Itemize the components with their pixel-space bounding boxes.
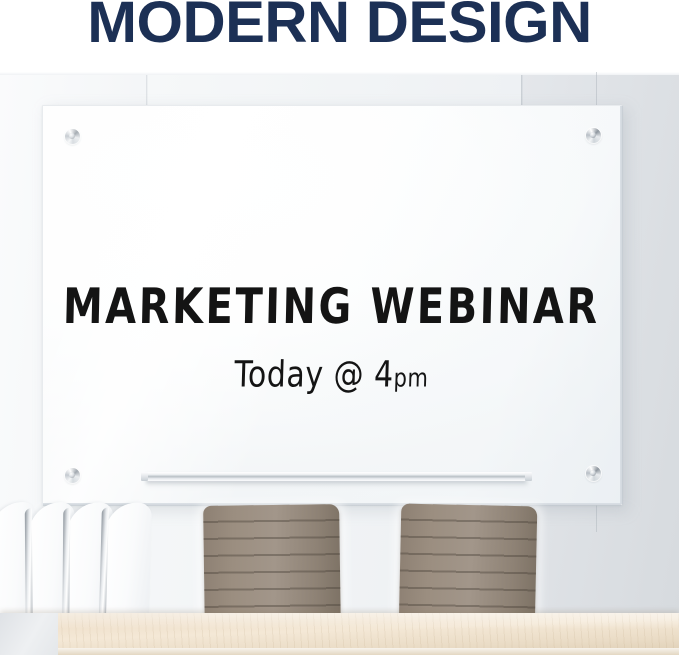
marker-tray-cap-right xyxy=(525,472,532,481)
standoff-top-left-icon xyxy=(65,129,80,144)
table-left-foreground xyxy=(0,613,58,655)
handwriting-line-2-main: Today @ 4 xyxy=(234,354,395,396)
handwriting-line-2-suffix: pm xyxy=(393,364,429,393)
ceiling-line xyxy=(0,72,679,75)
table-front-edge xyxy=(0,648,679,655)
standoff-top-right-icon xyxy=(586,128,601,143)
header-banner: MODERN DESIGN xyxy=(0,0,679,72)
chair-channel-stitching xyxy=(203,504,341,624)
table-gloss-highlight xyxy=(0,613,679,629)
conference-table xyxy=(0,613,679,655)
marker-tray-cap-left xyxy=(141,472,148,481)
standoff-bottom-right-icon xyxy=(586,466,601,481)
glass-whiteboard[interactable]: MARKETING WEBINAR Today @ 4pm xyxy=(42,105,622,505)
marker-tray[interactable] xyxy=(146,472,526,481)
furniture-group xyxy=(0,495,679,655)
chair-channel-stitching xyxy=(399,504,537,625)
page-title: MODERN DESIGN xyxy=(0,0,679,54)
room-photo: MARKETING WEBINAR Today @ 4pm xyxy=(0,72,679,655)
chair-backrest xyxy=(399,504,537,625)
chair-backrest xyxy=(203,504,341,624)
handwriting-line-1: MARKETING WEBINAR xyxy=(42,279,621,335)
handwriting-line-2: Today @ 4pm xyxy=(42,354,621,396)
marker-tray-shadow xyxy=(146,481,528,487)
standoff-bottom-left-icon xyxy=(65,468,80,483)
